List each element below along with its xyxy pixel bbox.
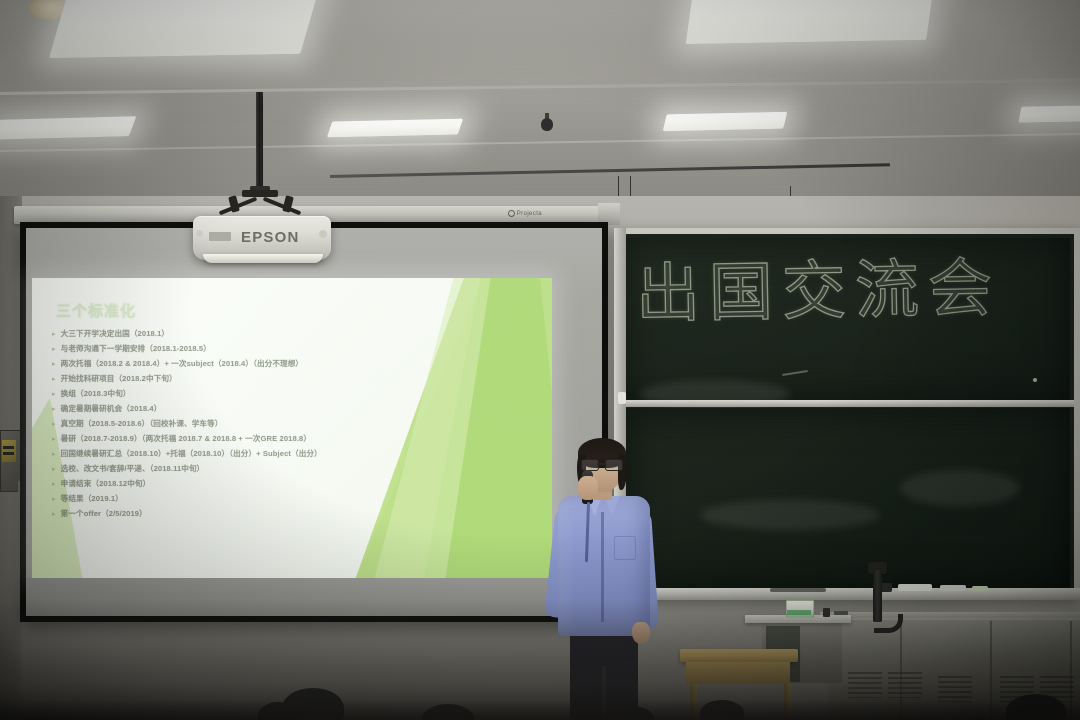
chalk-dust-smudge [900, 470, 1020, 506]
chalk-tray-item [940, 585, 966, 591]
control-box-plate [2, 440, 16, 462]
chalk-tray-item [972, 586, 988, 591]
projector-vent [209, 232, 231, 241]
slide-bullet-text: 第一个offer（2/5/2019） [61, 508, 147, 520]
bullet-marker-icon: ▸ [52, 464, 56, 476]
slide-title: 三个标准化 [56, 300, 136, 321]
chalk-dust-smudge [700, 500, 880, 530]
slide-bullet-text: 确定暑期暑研机会（2018.4） [61, 403, 162, 415]
blackboard-chalk-text: 出国交流会 [635, 249, 1001, 335]
screen-brand-logo: Projecta [508, 210, 542, 217]
slide-bullet-item: ▸大三下开学决定出国（2018.1） [52, 328, 532, 341]
projector-knob [196, 230, 203, 237]
blackboard-chalk-tray [614, 588, 1080, 600]
slide-bullet-text: 两次托福（2018.2 & 2018.4）+ 一次subject（2018.4）… [61, 358, 304, 370]
blackboard-magnet [618, 392, 626, 404]
slide-content: 三个标准化 ▸大三下开学决定出国（2018.1） ▸与老师沟通下一学期安排（20… [32, 278, 552, 578]
slide-bullet-text: 选校、改文书/套辞/平递、（2018.11中旬） [61, 463, 205, 475]
bullet-marker-icon: ▸ [52, 479, 56, 491]
security-camera-icon [540, 113, 554, 133]
chalk-tray-item [770, 588, 826, 592]
classroom-photo-scene: Projecta 三个标准化 ▸大三下开学决定出国（2018.1） ▸与老师沟通… [0, 0, 1080, 720]
projector-lens-housing [203, 254, 323, 263]
presenter-shirt-pocket [614, 536, 636, 560]
blackboard-screw [1033, 378, 1037, 382]
screen-brand-text: Projecta [517, 211, 542, 217]
projected-slide: 三个标准化 ▸大三下开学决定出国（2018.1） ▸与老师沟通下一学期安排（20… [32, 278, 552, 578]
slide-bullet-text: 等结果（2019.1） [61, 493, 123, 505]
ceiling-light-panel [49, 0, 321, 58]
ceiling-light-panel [0, 116, 136, 140]
projector-brand-label: EPSON [241, 229, 300, 246]
slide-bullet-item: ▸真空期（2018.5-2018.6）（回校补课、学车等） [52, 418, 532, 431]
slide-bullet-list: ▸大三下开学决定出国（2018.1） ▸与老师沟通下一学期安排（2018.1-2… [52, 328, 532, 521]
slide-bullet-item: ▸等结果（2019.1） [52, 493, 532, 506]
ceiling-light-panel [327, 119, 463, 138]
slide-bullet-text: 换组（2018.3中旬） [61, 388, 131, 400]
screen-brand-mark [508, 210, 515, 217]
slide-bullet-text: 申请结束（2018.12中旬） [61, 478, 151, 490]
presenter-left-hand [578, 476, 598, 500]
bullet-marker-icon: ▸ [52, 389, 56, 401]
slide-bullet-item: ▸回国继续暑研汇总（2018.10）+托福（2018.10）（出分）+ Subj… [52, 448, 532, 461]
slide-bullet-item: ▸确定暑期暑研机会（2018.4） [52, 403, 532, 416]
bullet-marker-icon: ▸ [52, 359, 56, 371]
bullet-marker-icon: ▸ [52, 404, 56, 416]
slide-bullet-text: 回国继续暑研汇总（2018.10）+托福（2018.10）（出分）+ Subje… [61, 448, 322, 460]
projector-knob [319, 230, 327, 238]
room-lower-shadow [0, 600, 1080, 720]
ceiling-light-panel [663, 112, 788, 132]
slide-bullet-text: 与老师沟通下一学期安排（2018.1-2018.5） [61, 343, 211, 355]
bullet-marker-icon: ▸ [52, 374, 56, 386]
ceiling-light-panel [1018, 105, 1080, 122]
bullet-marker-icon: ▸ [52, 509, 56, 521]
projector-cable [262, 96, 263, 196]
eyeglasses-icon [581, 459, 623, 469]
bullet-marker-icon: ▸ [52, 494, 56, 506]
slide-bullet-item: ▸两次托福（2018.2 & 2018.4）+ 一次subject（2018.4… [52, 358, 532, 371]
slide-bullet-text: 暑研（2018.7-2018.9）（两次托福 2018.7 & 2018.8 +… [61, 433, 311, 445]
bullet-marker-icon: ▸ [52, 449, 56, 461]
slide-bullet-text: 开始找科研项目（2018.2中下旬） [61, 373, 177, 385]
slide-bullet-item: ▸暑研（2018.7-2018.9）（两次托福 2018.7 & 2018.8 … [52, 433, 532, 446]
hanging-wire [618, 176, 619, 198]
slide-bullet-text: 大三下开学决定出国（2018.1） [61, 328, 169, 340]
bullet-marker-icon: ▸ [52, 419, 56, 431]
ceiling-light-panel [686, 0, 935, 44]
bullet-marker-icon: ▸ [52, 434, 56, 446]
slide-bullet-text: 真空期（2018.5-2018.6）（回校补课、学车等） [61, 418, 223, 430]
bullet-marker-icon: ▸ [52, 329, 56, 341]
slide-bullet-item: ▸第一个offer（2/5/2019） [52, 508, 532, 521]
slide-bullet-item: ▸换组（2018.3中旬） [52, 388, 532, 401]
slide-bullet-item: ▸与老师沟通下一学期安排（2018.1-2018.5） [52, 343, 532, 356]
slide-bullet-item: ▸申请结束（2018.12中旬） [52, 478, 532, 491]
projector-mount-bracket [214, 188, 310, 218]
blackboard-panel-divider [620, 400, 1074, 407]
ceiling-projector: EPSON [193, 216, 331, 260]
chalk-tray-item [898, 584, 932, 591]
slide-bullet-item: ▸选校、改文书/套辞/平递、（2018.11中旬） [52, 463, 532, 476]
bullet-marker-icon: ▸ [52, 344, 56, 356]
slide-bullet-item: ▸开始找科研项目（2018.2中下旬） [52, 373, 532, 386]
control-box-slot [3, 446, 14, 449]
control-box-slot [3, 452, 14, 455]
